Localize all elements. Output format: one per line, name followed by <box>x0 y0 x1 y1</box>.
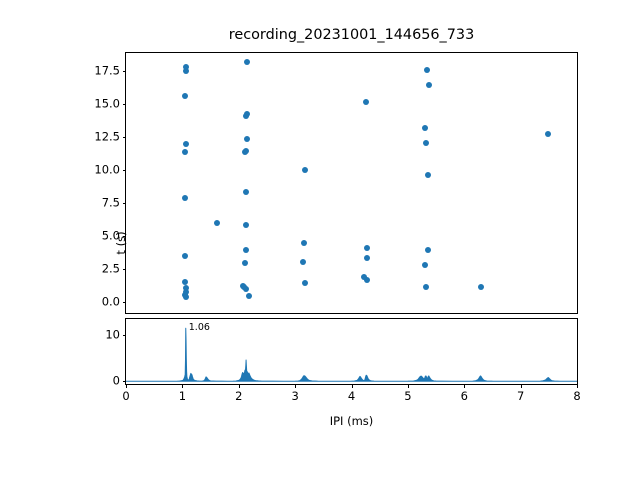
scatter-y-tick-label: 10.0 <box>78 164 120 176</box>
x-tick-mark <box>126 384 127 388</box>
scatter-point <box>425 247 431 253</box>
scatter-point <box>240 283 246 289</box>
scatter-y-tick-label: 0.0 <box>78 296 120 308</box>
histogram-y-tick-label: 0 <box>78 375 120 387</box>
page-title: recording_20231001_144656_733 <box>125 28 578 42</box>
scatter-y-tick-label: 17.5 <box>78 66 120 78</box>
scatter-point <box>301 240 307 246</box>
scatter-y-tick-mark <box>123 71 127 72</box>
histogram-y-tick-mark <box>123 381 127 382</box>
x-tick-label: 5 <box>404 391 411 403</box>
scatter-plot-area <box>126 53 577 313</box>
scatter-point <box>478 284 484 290</box>
scatter-point <box>182 93 188 99</box>
x-axis-label: IPI (ms) <box>125 414 578 428</box>
x-tick-label: 8 <box>573 391 580 403</box>
scatter-y-tick-label: 12.5 <box>78 132 120 144</box>
scatter-point <box>425 172 431 178</box>
scatter-point <box>302 167 308 173</box>
scatter-axes: t (s) 0.02.55.07.510.012.515.017.5 <box>125 52 578 314</box>
scatter-point <box>364 255 370 261</box>
x-tick-label: 1 <box>179 391 186 403</box>
scatter-point <box>183 141 189 147</box>
scatter-point <box>422 262 428 268</box>
scatter-point <box>422 125 428 131</box>
x-tick-mark <box>521 384 522 388</box>
scatter-point <box>182 149 188 155</box>
scatter-y-tick-mark <box>123 203 127 204</box>
scatter-point <box>300 259 306 265</box>
scatter-point <box>243 189 249 195</box>
scatter-y-tick-mark <box>123 269 127 270</box>
x-tick-mark <box>577 384 578 388</box>
x-tick-label: 6 <box>461 391 468 403</box>
scatter-point <box>364 245 370 251</box>
scatter-point <box>182 253 188 259</box>
x-tick-mark <box>182 384 183 388</box>
histogram-y-tick-label: 10 <box>78 329 120 341</box>
scatter-point <box>183 294 189 300</box>
x-tick-mark <box>295 384 296 388</box>
scatter-point <box>244 111 250 117</box>
histogram-y-tick-mark <box>123 335 127 336</box>
x-tick-label: 7 <box>517 391 524 403</box>
x-tick-mark <box>408 384 409 388</box>
histogram-axes: 1.06 010 012345678 <box>125 318 578 385</box>
scatter-point <box>183 285 189 291</box>
scatter-y-tick-mark <box>123 236 127 237</box>
scatter-point <box>214 220 220 226</box>
scatter-y-tick-mark <box>123 170 127 171</box>
scatter-point <box>423 284 429 290</box>
peak-ipi-annotation: 1.06 <box>189 323 210 333</box>
scatter-point <box>424 67 430 73</box>
scatter-point <box>423 140 429 146</box>
x-tick-label: 3 <box>291 391 298 403</box>
scatter-y-tick-mark <box>123 104 127 105</box>
scatter-point <box>302 280 308 286</box>
scatter-y-tick-label: 15.0 <box>78 99 120 111</box>
x-tick-mark <box>352 384 353 388</box>
scatter-point <box>182 195 188 201</box>
x-tick-mark <box>239 384 240 388</box>
scatter-point <box>243 222 249 228</box>
scatter-point <box>363 99 369 105</box>
scatter-y-tick-label: 7.5 <box>78 197 120 209</box>
scatter-point <box>244 136 250 142</box>
scatter-y-tick-mark <box>123 137 127 138</box>
x-tick-label: 0 <box>122 391 129 403</box>
scatter-point <box>545 131 551 137</box>
scatter-point <box>242 260 248 266</box>
scatter-point <box>243 148 249 154</box>
scatter-point <box>426 82 432 88</box>
scatter-point <box>243 247 249 253</box>
scatter-y-tick-label: 5.0 <box>78 230 120 242</box>
scatter-y-tick-label: 2.5 <box>78 263 120 275</box>
scatter-point <box>244 59 250 65</box>
x-tick-mark <box>464 384 465 388</box>
scatter-y-tick-mark <box>123 302 127 303</box>
x-tick-label: 2 <box>235 391 242 403</box>
scatter-point <box>246 293 252 299</box>
x-tick-label: 4 <box>348 391 355 403</box>
matplotlib-figure: recording_20231001_144656_733 t (s) 0.02… <box>0 0 640 480</box>
